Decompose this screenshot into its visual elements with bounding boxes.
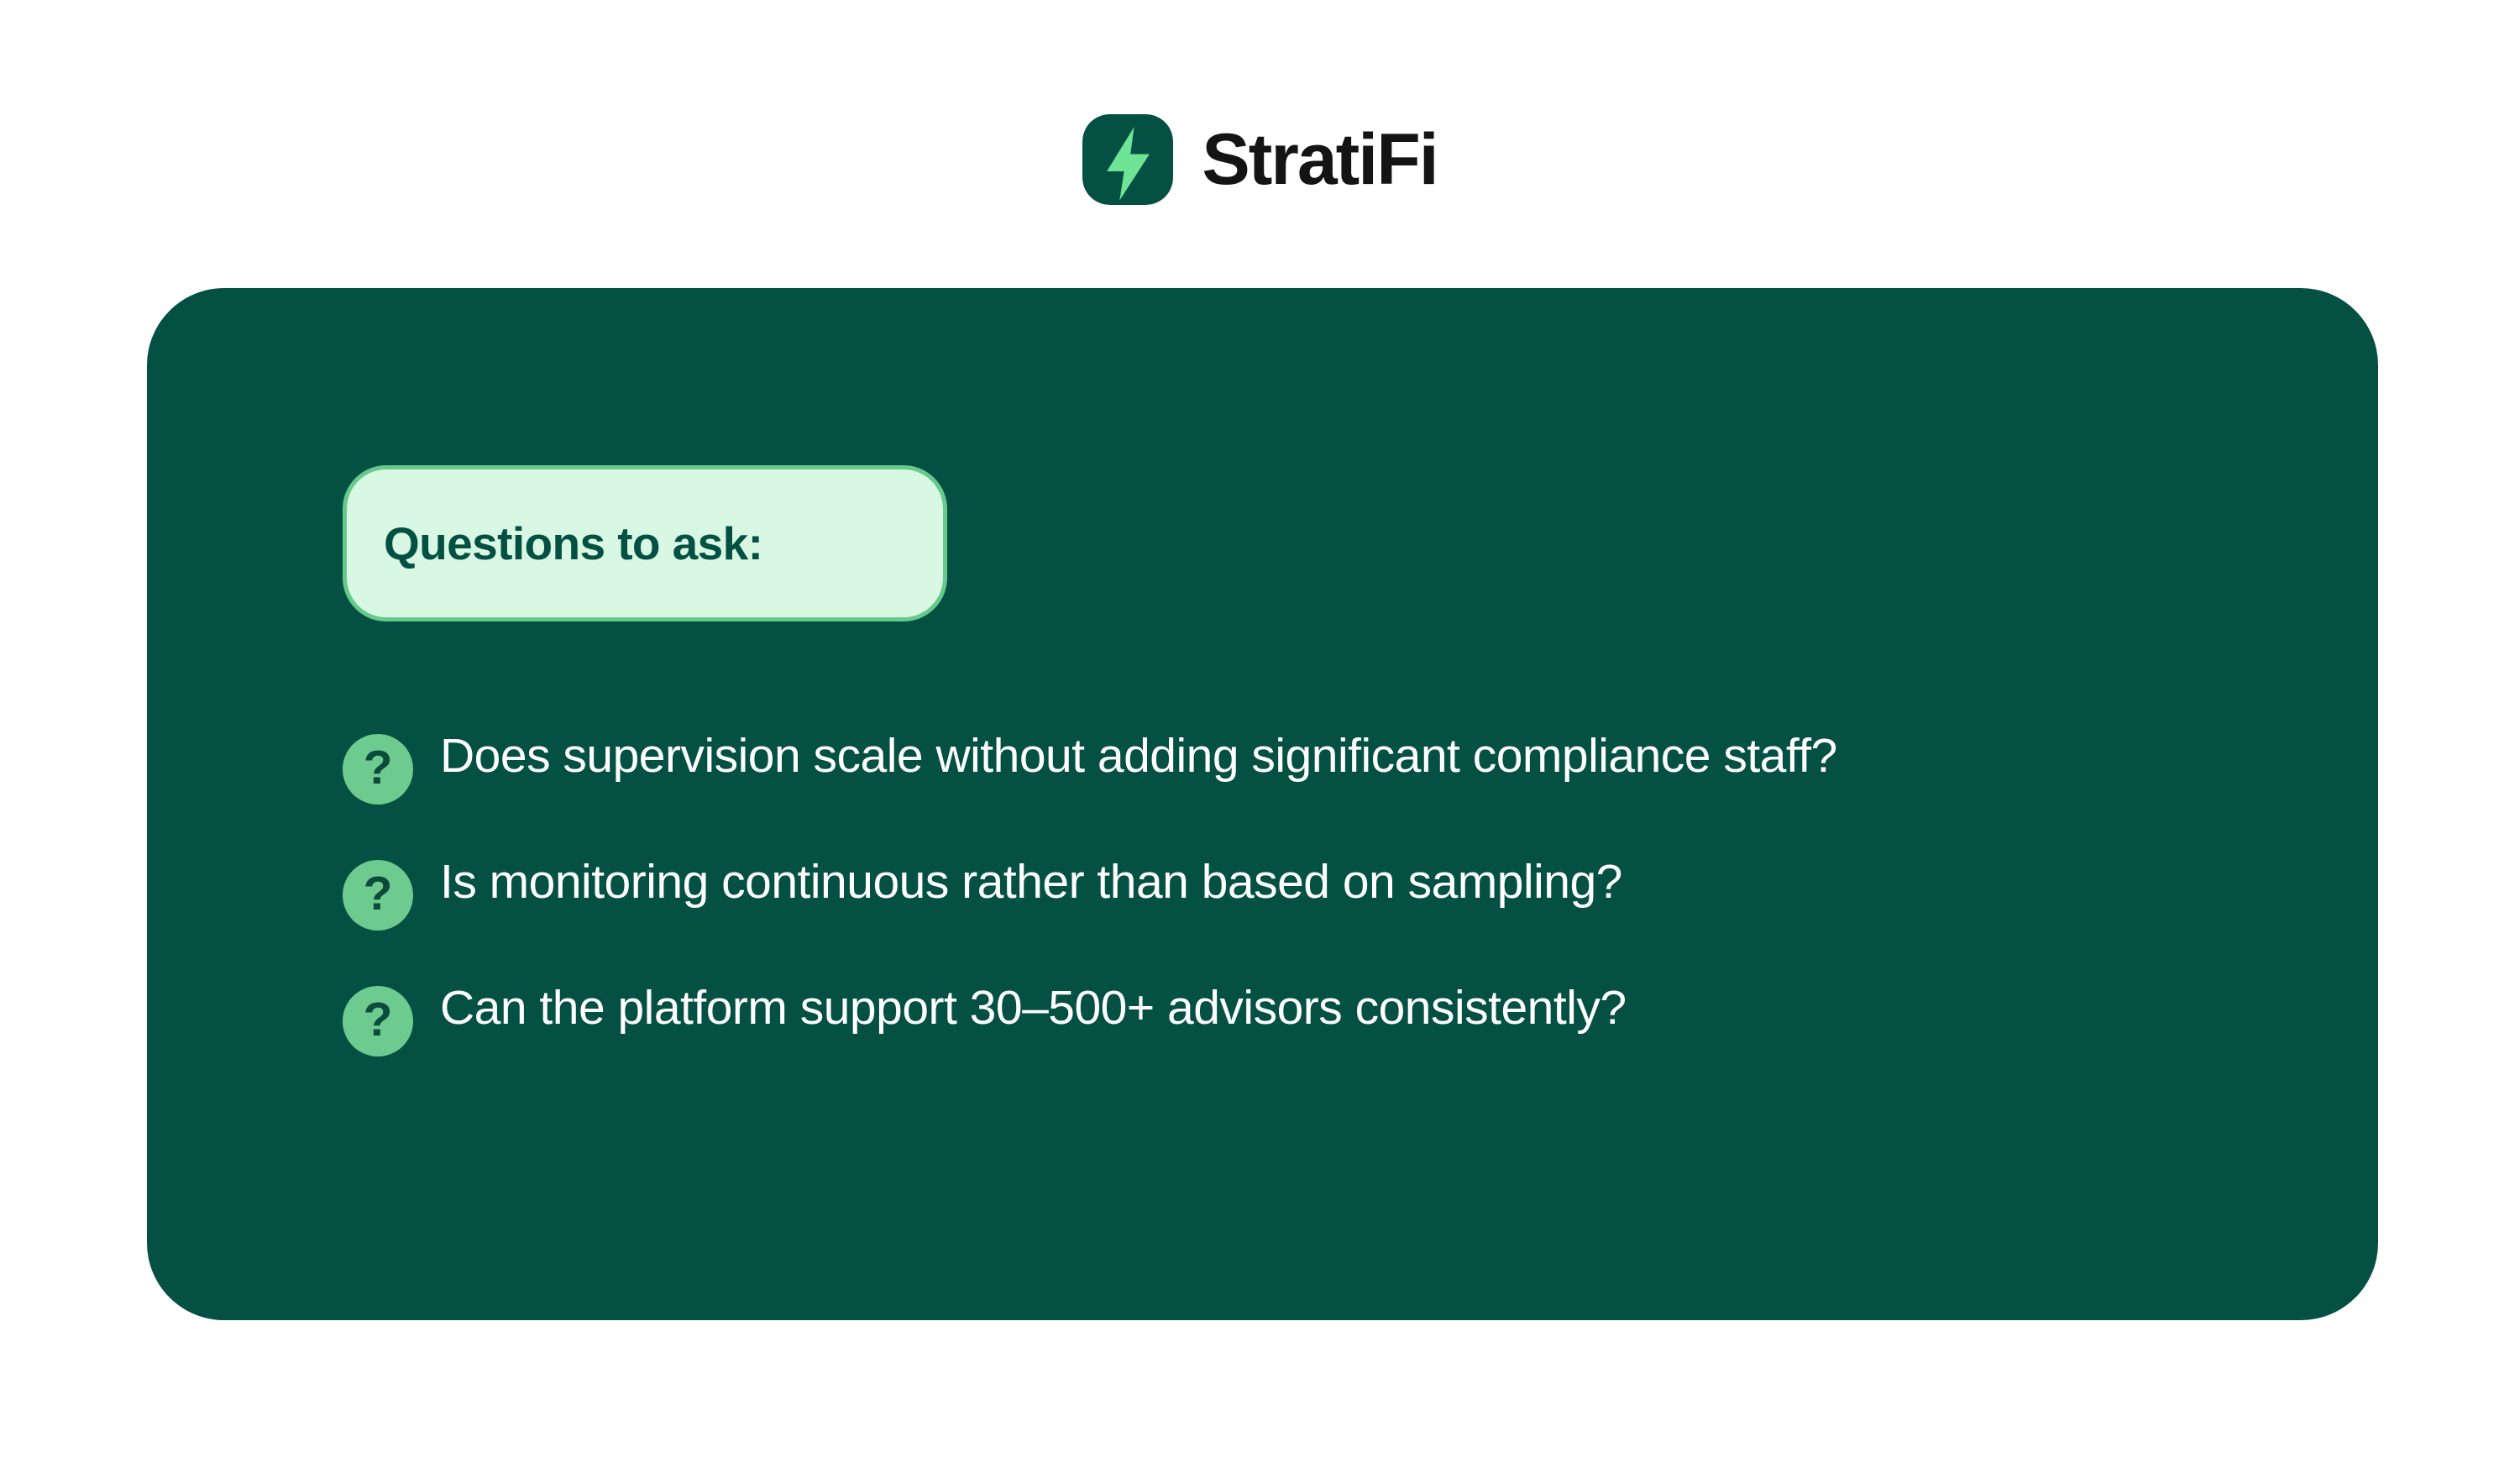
questions-heading-label: Questions to ask: [384,521,762,567]
questions-list: ? Does supervision scale without adding … [343,727,2131,1056]
question-text: Is monitoring continuous rather than bas… [440,853,2131,912]
questions-card: Questions to ask: ? Does supervision sca… [147,288,2378,1320]
question-mark-glyph: ? [364,996,393,1044]
list-item: ? Is monitoring continuous rather than b… [343,853,2131,931]
question-mark-icon: ? [343,986,413,1056]
question-text: Does supervision scale without adding si… [440,727,1918,786]
brand-wordmark: StratiFi [1202,123,1437,196]
list-item: ? Can the platform support 30–500+ advis… [343,979,2131,1056]
slide-canvas: StratiFi Questions to ask: ? Does superv… [0,0,2520,1468]
question-mark-icon: ? [343,734,413,805]
brand-header: StratiFi [0,114,2520,205]
question-mark-glyph: ? [364,870,393,918]
stratifi-bolt-logo-icon [1082,114,1173,205]
question-mark-glyph: ? [364,744,393,792]
question-text: Can the platform support 30–500+ advisor… [440,979,2131,1038]
list-item: ? Does supervision scale without adding … [343,727,2131,805]
question-mark-icon: ? [343,860,413,931]
questions-heading-pill: Questions to ask: [343,465,947,621]
